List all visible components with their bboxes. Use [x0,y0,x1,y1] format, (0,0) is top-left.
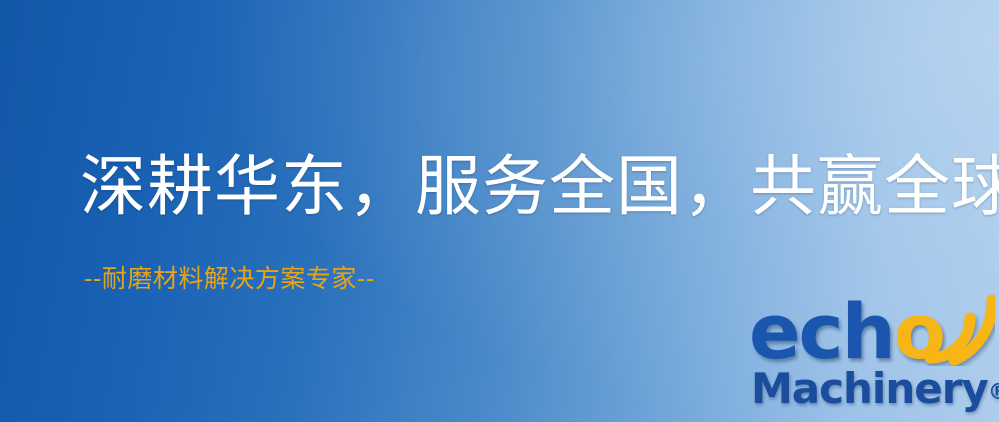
logo-wordmark: echo [749,294,944,370]
logo-wordmark-prefix: ech [749,287,894,376]
echo-wave-arcs-icon [923,292,995,366]
company-logo: echo Machinery® [737,292,999,422]
banner-subtitle: --耐磨材料解决方案专家-- [84,264,375,294]
banner-headline: 深耕华东，服务全国，共赢全球 [80,152,999,221]
logo-subword-text: Machinery [751,364,988,413]
registered-trademark-icon: ® [988,380,999,405]
promotional-banner: 深耕华东，服务全国，共赢全球 --耐磨材料解决方案专家-- echo Machi… [0,0,999,422]
logo-subword: Machinery® [751,368,999,410]
